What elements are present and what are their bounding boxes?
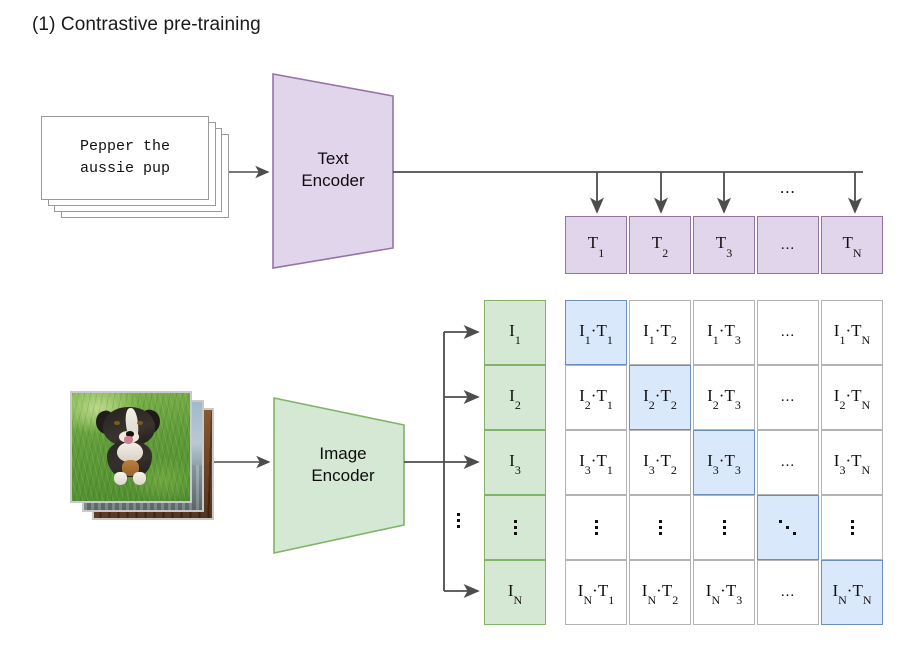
similarity-cell-r4-c3[interactable]: [693, 495, 755, 560]
similarity-cell-r2-c3[interactable]: I2·T3: [693, 365, 755, 430]
text-bus-ellipsis: ...: [780, 178, 796, 198]
similarity-cell-r1-c1[interactable]: I1·T1: [565, 300, 627, 365]
text-caption: Pepper the aussie pup: [80, 136, 170, 180]
image-embedding-cell-2[interactable]: I2: [484, 365, 546, 430]
similarity-cell-r1-c3[interactable]: I1·T3: [693, 300, 755, 365]
image-encoder-shape[interactable]: [274, 398, 404, 553]
similarity-cell-r5-c4[interactable]: ...: [757, 560, 819, 625]
diagram-canvas: (1) Contrastive pre-training: [0, 0, 906, 654]
photo-front-puppy[interactable]: [70, 391, 192, 503]
image-embedding-cell-3[interactable]: I3: [484, 430, 546, 495]
image-embedding-cell-1[interactable]: I1: [484, 300, 546, 365]
similarity-cell-r5-c2[interactable]: IN·T2: [629, 560, 691, 625]
similarity-cell-r3-c1[interactable]: I3·T1: [565, 430, 627, 495]
text-embedding-cell-n[interactable]: TN: [821, 216, 883, 274]
text-card-front[interactable]: Pepper the aussie pup: [41, 116, 209, 200]
similarity-cell-r4-c5[interactable]: [821, 495, 883, 560]
similarity-cell-r4-c4[interactable]: [757, 495, 819, 560]
similarity-cell-r3-c2[interactable]: I3·T2: [629, 430, 691, 495]
text-encoder-shape[interactable]: [273, 74, 393, 268]
image-embedding-cell-ellipsis[interactable]: [484, 495, 546, 560]
similarity-cell-r5-c3[interactable]: IN·T3: [693, 560, 755, 625]
image-encoder-label: Image Encoder: [288, 443, 398, 487]
page-title: (1) Contrastive pre-training: [32, 14, 261, 36]
text-embedding-cell-3[interactable]: T3: [693, 216, 755, 274]
similarity-cell-r1-c4[interactable]: ...: [757, 300, 819, 365]
similarity-cell-r2-c2[interactable]: I2·T2: [629, 365, 691, 430]
similarity-cell-r3-c3[interactable]: I3·T3: [693, 430, 755, 495]
text-embedding-cell-2[interactable]: T2: [629, 216, 691, 274]
similarity-cell-r4-c2[interactable]: [629, 495, 691, 560]
similarity-cell-r4-c1[interactable]: [565, 495, 627, 560]
similarity-cell-r1-c2[interactable]: I1·T2: [629, 300, 691, 365]
image-route-ellipsis: [457, 513, 460, 528]
similarity-cell-r5-c1[interactable]: IN·T1: [565, 560, 627, 625]
similarity-cell-r2-c1[interactable]: I2·T1: [565, 365, 627, 430]
similarity-cell-r2-c4[interactable]: ...: [757, 365, 819, 430]
text-embedding-cell-ellipsis[interactable]: ...: [757, 216, 819, 274]
image-embedding-cell-n[interactable]: IN: [484, 560, 546, 625]
similarity-cell-r5-c5[interactable]: IN·TN: [821, 560, 883, 625]
text-embedding-cell-1[interactable]: T1: [565, 216, 627, 274]
text-encoder-label: Text Encoder: [283, 148, 383, 192]
puppy-photo-content: [72, 393, 190, 501]
similarity-cell-r3-c5[interactable]: I3·TN: [821, 430, 883, 495]
similarity-cell-r1-c5[interactable]: I1·TN: [821, 300, 883, 365]
similarity-cell-r3-c4[interactable]: ...: [757, 430, 819, 495]
similarity-cell-r2-c5[interactable]: I2·TN: [821, 365, 883, 430]
